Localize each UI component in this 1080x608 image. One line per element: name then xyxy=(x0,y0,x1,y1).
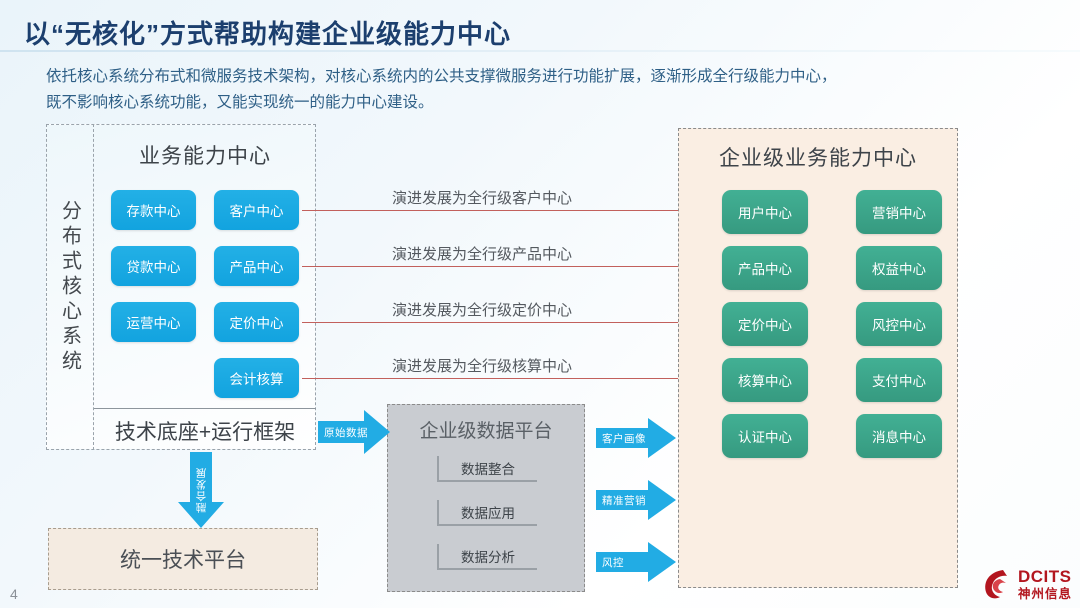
data-platform-item-analysis[interactable]: 数据分析 xyxy=(437,544,537,570)
ent-auth-center[interactable]: 认证中心 xyxy=(722,414,808,458)
enterprise-capability-title: 企业级业务能力中心 xyxy=(678,142,958,172)
precision-marketing-arrow: 精准营销 xyxy=(596,480,676,520)
evolve-line-customer xyxy=(302,210,714,211)
ent-payment-center[interactable]: 支付中心 xyxy=(856,358,942,402)
business-capability-title: 业务能力中心 xyxy=(94,140,316,170)
data-platform-title: 企业级数据平台 xyxy=(387,416,585,443)
ent-message-center[interactable]: 消息中心 xyxy=(856,414,942,458)
ent-rights-center[interactable]: 权益中心 xyxy=(856,246,942,290)
evolve-line-pricing xyxy=(302,322,714,323)
unified-tech-platform: 统一技术平台 xyxy=(48,528,318,590)
ent-pricing-center[interactable]: 定价中心 xyxy=(722,302,808,346)
distributed-core-label: 分布式核心系统 xyxy=(46,124,94,450)
evolve-line-product xyxy=(302,266,714,267)
ent-user-center[interactable]: 用户中心 xyxy=(722,190,808,234)
distributed-core-text: 分布式核心系统 xyxy=(60,200,80,375)
lead-line-2: 既不影响核心系统功能，又能实现统一的能力中心建设。 xyxy=(46,90,1006,116)
lead-line-1: 依托核心系统分布式和微服务技术架构，对核心系统内的公共支撑微服务进行功能扩展，逐… xyxy=(46,64,1006,90)
evolve-label-accounting: 演进发展为全行级核算中心 xyxy=(392,355,572,376)
data-platform-item-integration[interactable]: 数据整合 xyxy=(437,456,537,482)
capability-loan-center[interactable]: 贷款中心 xyxy=(111,246,196,286)
capability-product-center[interactable]: 产品中心 xyxy=(214,246,299,286)
title-divider xyxy=(0,50,1080,52)
ent-risk-center[interactable]: 风控中心 xyxy=(856,302,942,346)
dcits-mark-icon xyxy=(983,568,1013,600)
data-platform-item-application[interactable]: 数据应用 xyxy=(437,500,537,526)
capability-operation-center[interactable]: 运营中心 xyxy=(111,302,196,342)
customer-profile-arrow: 客户画像 xyxy=(596,418,676,458)
ent-product-center[interactable]: 产品中心 xyxy=(722,246,808,290)
page-title: 以“无核化”方式帮助构建企业级能力中心 xyxy=(24,14,511,51)
capability-accounting[interactable]: 会计核算 xyxy=(214,358,299,398)
evolve-line-accounting xyxy=(302,378,714,379)
evolve-label-pricing: 演进发展为全行级定价中心 xyxy=(392,299,572,320)
capability-deposit-center[interactable]: 存款中心 xyxy=(111,190,196,230)
dcits-logo-text: DCITS 神州信息 xyxy=(1018,568,1072,601)
tech-base-label: 技术底座+运行框架 xyxy=(94,412,316,450)
lead-paragraph: 依托核心系统分布式和微服务技术架构，对核心系统内的公共支撑微服务进行功能扩展，逐… xyxy=(46,64,1006,115)
fusion-arrow-label: 融合发展 xyxy=(178,452,224,528)
risk-control-arrow-shape xyxy=(596,542,676,582)
evolve-label-product: 演进发展为全行级产品中心 xyxy=(392,243,572,264)
precision-marketing-arrow-shape xyxy=(596,480,676,520)
ent-accounting-center[interactable]: 核算中心 xyxy=(722,358,808,402)
page-number: 4 xyxy=(10,586,18,602)
capability-pricing-center[interactable]: 定价中心 xyxy=(214,302,299,342)
ent-marketing-center[interactable]: 营销中心 xyxy=(856,190,942,234)
dcits-logo: DCITS 神州信息 xyxy=(983,568,1072,601)
capability-customer-center[interactable]: 客户中心 xyxy=(214,190,299,230)
dcits-logo-cn: 神州信息 xyxy=(1018,588,1072,601)
raw-data-arrow: 原始数据 xyxy=(318,410,390,454)
evolve-label-customer: 演进发展为全行级客户中心 xyxy=(392,187,572,208)
risk-control-arrow: 风控 xyxy=(596,542,676,582)
fusion-arrow: 融合发展 xyxy=(178,452,224,528)
dcits-logo-en: DCITS xyxy=(1018,568,1072,585)
customer-profile-arrow-shape xyxy=(596,418,676,458)
raw-data-arrow-shape xyxy=(318,410,390,454)
